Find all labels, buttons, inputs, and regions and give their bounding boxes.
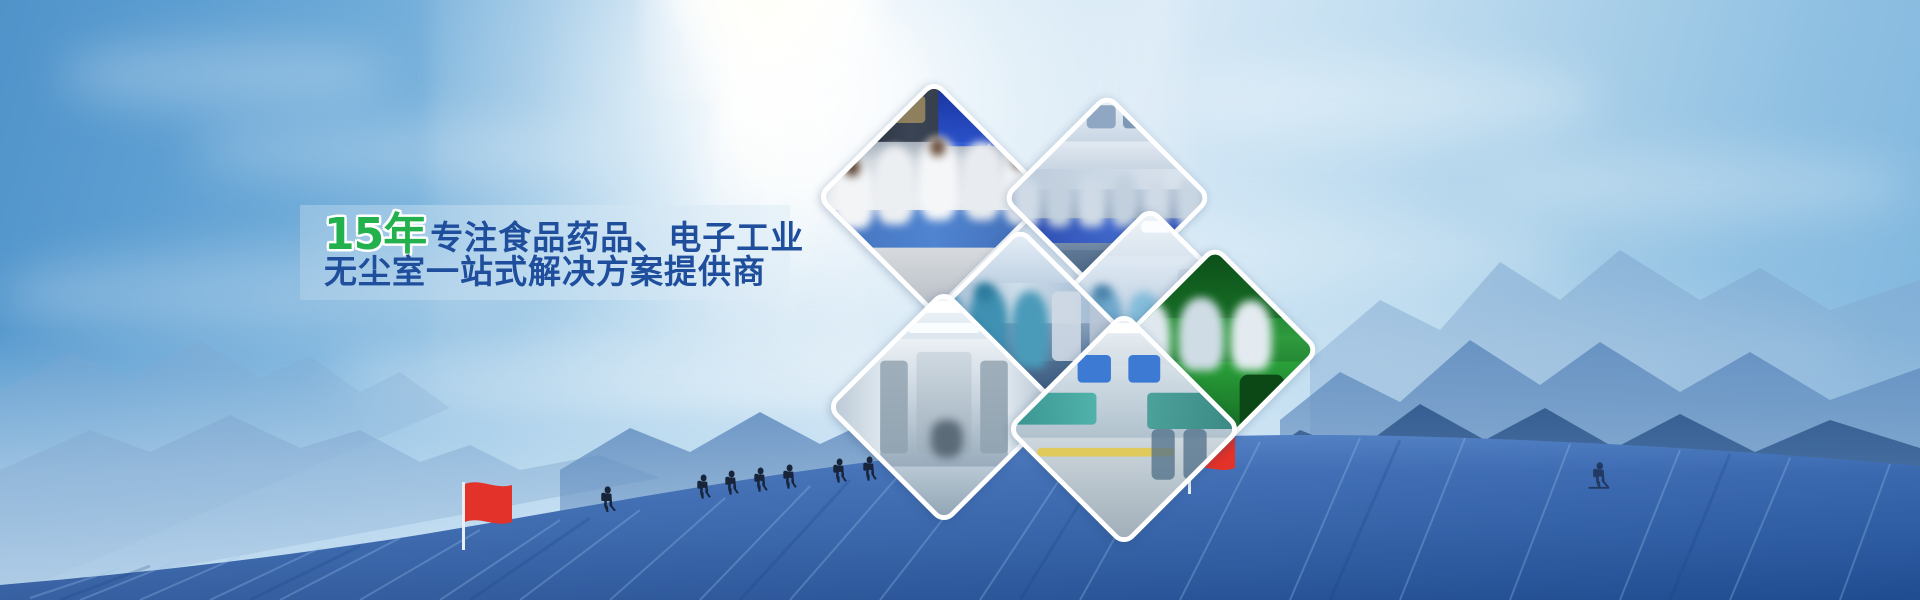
- years-badge: 15年: [324, 213, 426, 257]
- headline-line-2: 无尘室一站式解决方案提供商: [324, 255, 766, 288]
- hero-banner: 15年 专注食品药品、电子工业 无尘室一站式解决方案提供商: [0, 0, 1920, 600]
- headline-line-1-text: 专注食品药品、电子工业: [430, 221, 804, 254]
- headline-line-1: 15年 专注食品药品、电子工业: [324, 213, 804, 257]
- headline-panel: 15年 专注食品药品、电子工业 无尘室一站式解决方案提供商: [300, 205, 790, 300]
- photo-collage: [840, 85, 1280, 475]
